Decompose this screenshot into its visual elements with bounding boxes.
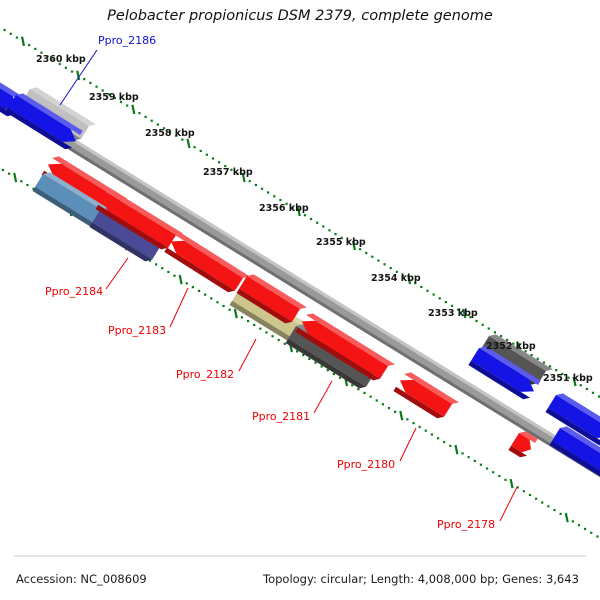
scale-tick-dot — [500, 335, 502, 337]
scale-tick-dot — [173, 275, 175, 277]
scale-tick-dot — [200, 150, 202, 152]
scale-position-label: 2355 kbp — [316, 237, 366, 248]
scale-tick-dot — [95, 86, 97, 88]
scale-position-label: 2357 kbp — [203, 167, 253, 178]
scale-tick-dot — [357, 388, 359, 390]
gene-label[interactable]: Ppro_2184 — [45, 285, 103, 298]
scale-tick-dot — [278, 339, 280, 341]
scale-tick-dot — [578, 524, 580, 526]
scale-tick-dot — [328, 229, 330, 231]
scale-tick-dot — [451, 305, 453, 307]
scale-tick-dot — [377, 259, 379, 261]
gene-label[interactable]: Ppro_2186 — [98, 34, 156, 47]
scale-tick-dot — [359, 248, 361, 250]
scale-tick-dot — [535, 498, 537, 500]
scale-tick-dot — [310, 218, 312, 220]
scale-tick-dot — [138, 112, 140, 114]
scale-tick-dot — [572, 520, 574, 522]
scale-tick-dot — [10, 33, 12, 35]
scale-tick-dot — [259, 328, 261, 330]
scale-tick-dot — [549, 365, 551, 367]
scale-tick-dot — [334, 233, 336, 235]
scale-tick-dot — [365, 252, 367, 254]
scale-tick-dot — [167, 271, 169, 273]
scale-tick-dot — [437, 437, 439, 439]
scale-tick-dot — [474, 460, 476, 462]
scale-tick-dot — [388, 407, 390, 409]
scale-tick-dot — [304, 214, 306, 216]
scale-tick-dot — [596, 535, 598, 537]
scale-tick-dot — [580, 384, 582, 386]
scale-tick-dot — [431, 433, 433, 435]
scale-tick-dot — [192, 286, 194, 288]
scale-tick-dot — [592, 392, 594, 394]
scale-tick-dot — [249, 180, 251, 182]
scale-tick-dot — [89, 82, 91, 84]
scale-tick-dot — [590, 532, 592, 534]
scale-tick-dot — [488, 327, 490, 329]
scale-tick-dot — [351, 384, 353, 386]
scale-tick-dot — [210, 297, 212, 299]
scale-tick-dot — [425, 430, 427, 432]
accession-text: Accession: NC_008609 — [16, 572, 147, 586]
scale-position-label: 2359 kbp — [89, 92, 139, 103]
gene-label[interactable]: Ppro_2183 — [108, 324, 166, 337]
scale-tick-dot — [4, 29, 6, 31]
scale-position-label: 2352 kbp — [486, 341, 536, 352]
scale-tick-dot — [439, 297, 441, 299]
scale-tick-dot — [322, 225, 324, 227]
scale-tick-dot — [198, 290, 200, 292]
gene-label[interactable]: Ppro_2180 — [337, 458, 395, 471]
scale-tick-dot — [433, 293, 435, 295]
scale-tick-dot — [531, 354, 533, 356]
scale-tick-dot — [376, 399, 378, 401]
scale-tick-dot — [541, 501, 543, 503]
scale-tick-dot — [480, 464, 482, 466]
scale-tick-dot — [498, 475, 500, 477]
scale-tick-dot — [412, 422, 414, 424]
scale-tick-dot — [537, 358, 539, 360]
scale-tick-dot — [494, 331, 496, 333]
scale-tick-dot — [261, 188, 263, 190]
scale-tick-dot — [222, 305, 224, 307]
scale-tick-dot — [204, 294, 206, 296]
scale-tick-dot — [271, 335, 273, 337]
scale-tick-dot — [555, 369, 557, 371]
scale-tick-dot — [34, 48, 36, 50]
genome-map-figure: Pelobacter propionicus DSM 2379, complet… — [0, 0, 600, 600]
scale-tick-dot — [186, 282, 188, 284]
scale-tick-dot — [468, 456, 470, 458]
scale-tick-dot — [2, 169, 4, 171]
scale-tick-dot — [461, 452, 463, 454]
scale-tick-dot — [475, 320, 477, 322]
scale-tick-dot — [71, 70, 73, 72]
scale-position-label: 2360 kbp — [36, 54, 86, 65]
scale-tick-dot — [212, 157, 214, 159]
scale-tick-dot — [339, 377, 341, 379]
scale-tick-dot — [65, 67, 67, 69]
scale-tick-dot — [126, 105, 128, 107]
scale-tick-dot — [443, 441, 445, 443]
scale-tick-dot — [529, 494, 531, 496]
canvas-background — [0, 0, 600, 600]
scale-position-label: 2354 kbp — [371, 273, 421, 284]
scale-tick-dot — [253, 324, 255, 326]
genome-stats-text: Topology: circular; Length: 4,008,000 bp… — [262, 572, 579, 586]
scale-tick-dot — [406, 418, 408, 420]
scale-tick-dot — [383, 263, 385, 265]
scale-tick-dot — [218, 161, 220, 163]
scale-tick-dot — [370, 396, 372, 398]
scale-tick-dot — [157, 123, 159, 125]
scale-tick-dot — [486, 467, 488, 469]
scale-tick-dot — [543, 361, 545, 363]
scale-tick-dot — [83, 78, 85, 80]
scale-tick-dot — [482, 324, 484, 326]
scale-tick-dot — [394, 411, 396, 413]
scale-tick-dot — [267, 191, 269, 193]
gene-label[interactable]: Ppro_2182 — [176, 368, 234, 381]
scale-tick-dot — [371, 256, 373, 258]
scale-tick-dot — [144, 116, 146, 118]
scale-tick-dot — [363, 392, 365, 394]
gene-label[interactable]: Ppro_2181 — [252, 410, 310, 423]
scale-tick-dot — [426, 290, 428, 292]
scale-tick-dot — [492, 471, 494, 473]
scale-tick-dot — [216, 301, 218, 303]
scale-tick-dot — [265, 331, 267, 333]
scale-tick-dot — [194, 146, 196, 148]
scale-position-label: 2351 kbp — [543, 373, 593, 384]
scale-tick-dot — [382, 403, 384, 405]
scale-position-label: 2356 kbp — [259, 203, 309, 214]
scale-tick-dot — [547, 505, 549, 507]
gene-label[interactable]: Ppro_2178 — [437, 518, 495, 531]
scale-tick-dot — [560, 513, 562, 515]
scale-tick-dot — [504, 479, 506, 481]
scale-tick-dot — [20, 180, 22, 182]
scale-tick-dot — [28, 44, 30, 46]
scale-tick-dot — [586, 388, 588, 390]
scale-tick-dot — [419, 426, 421, 428]
scale-tick-dot — [273, 195, 275, 197]
scale-tick-dot — [241, 316, 243, 318]
scale-tick-dot — [151, 120, 153, 122]
scale-tick-dot — [316, 222, 318, 224]
scale-tick-dot — [206, 154, 208, 156]
scale-tick-dot — [449, 445, 451, 447]
scale-tick-dot — [279, 199, 281, 201]
scale-tick-dot — [229, 309, 231, 311]
scale-tick-dot — [584, 528, 586, 530]
scale-tick-dot — [26, 184, 28, 186]
scale-tick-dot — [8, 173, 10, 175]
scale-tick-dot — [445, 301, 447, 303]
scale-tick-dot — [523, 490, 525, 492]
scale-tick-dot — [161, 267, 163, 269]
scale-tick-dot — [247, 320, 249, 322]
scale-tick-dot — [390, 267, 392, 269]
figure-title: Pelobacter propionicus DSM 2379, complet… — [107, 8, 493, 24]
scale-tick-dot — [16, 36, 18, 38]
scale-tick-dot — [553, 509, 555, 511]
scale-position-label: 2358 kbp — [145, 128, 195, 139]
scale-tick-dot — [420, 286, 422, 288]
scale-tick-dot — [255, 184, 257, 186]
scale-tick-dot — [155, 263, 157, 265]
scale-position-label: 2353 kbp — [428, 308, 478, 319]
